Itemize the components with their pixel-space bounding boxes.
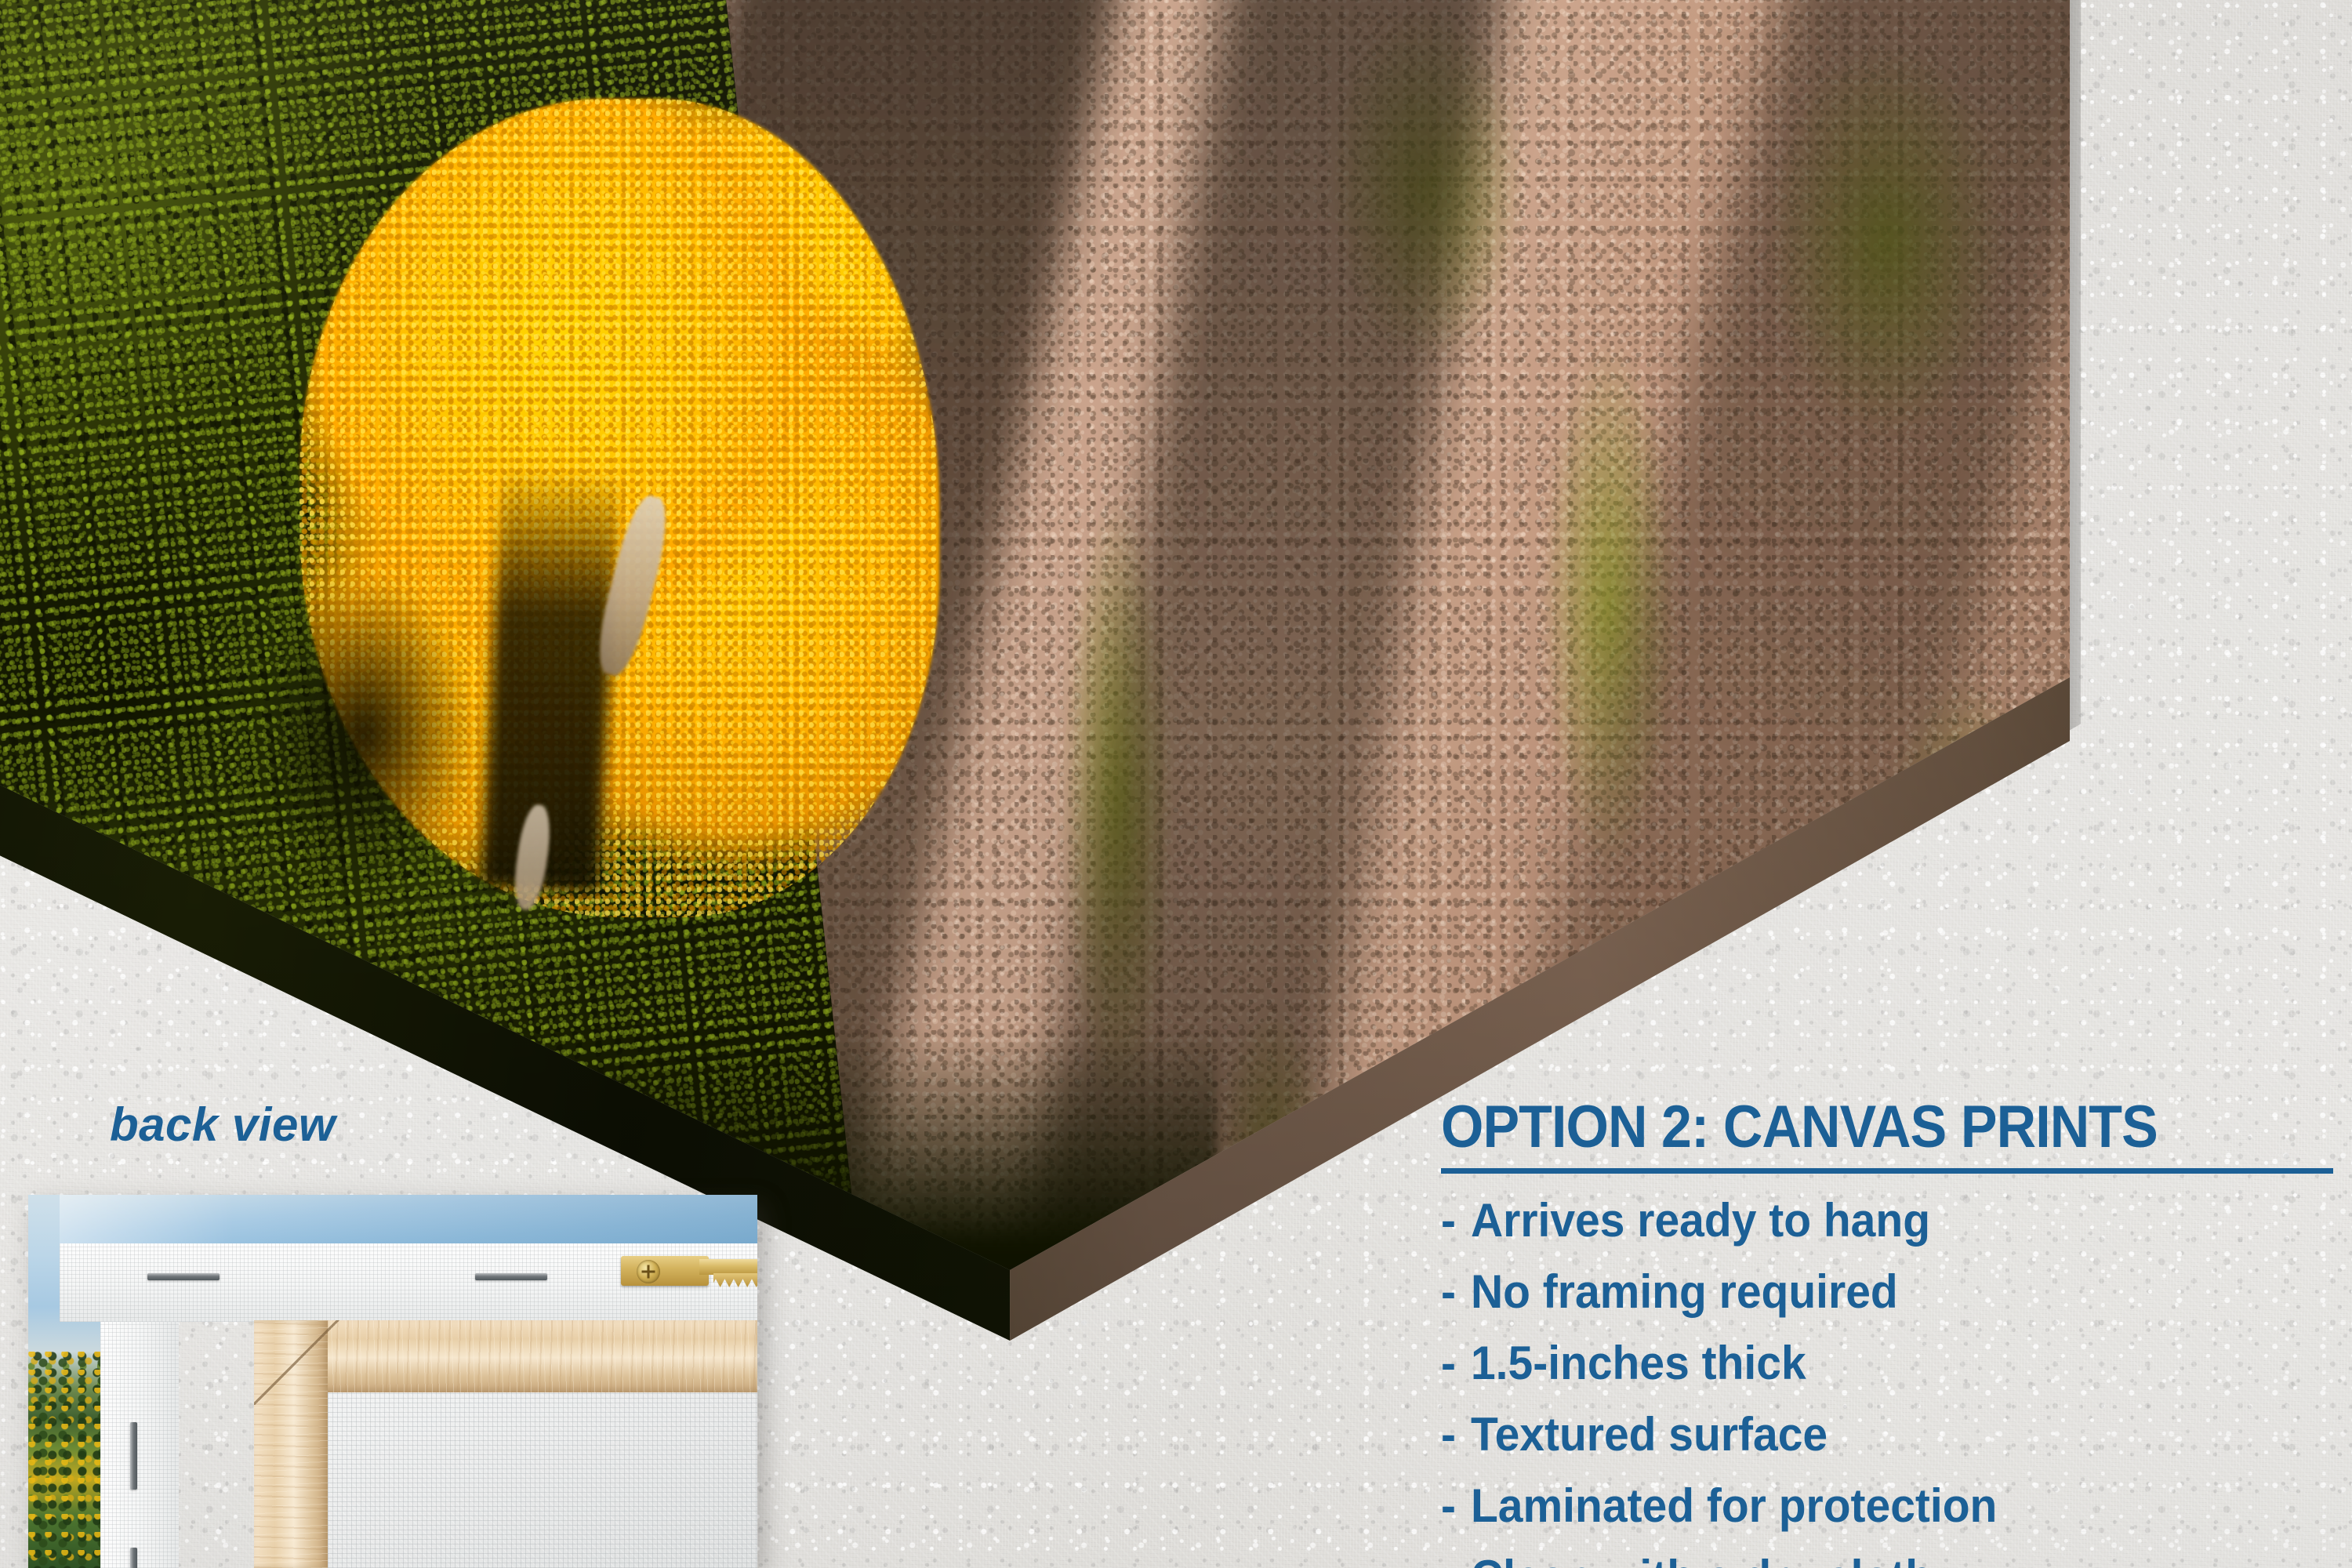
panel-title-underline (1441, 1168, 2333, 1174)
feature-bullet: - 1.5-inches thick (1441, 1340, 2290, 1387)
printed-canvas-wrap-left-texture (28, 1352, 100, 1568)
back-view-thumbnail (28, 1195, 757, 1568)
bullet-text: Arrives ready to hang (1471, 1197, 1930, 1244)
feature-bullet: - No framing required (1441, 1269, 2290, 1316)
feature-bullet: - Clean with a dry cloth (1441, 1554, 2290, 1568)
bullet-dash: - (1441, 1554, 1456, 1568)
canvas-back-weave-texture (328, 1392, 757, 1568)
bullet-dash: - (1441, 1483, 1456, 1530)
staple (147, 1273, 220, 1280)
feature-bullet: - Arrives ready to hang (1441, 1197, 2290, 1244)
staple (475, 1273, 547, 1280)
white-canvas-band-left-weave (100, 1322, 179, 1568)
brass-screw-icon (637, 1260, 660, 1283)
bullet-dash: - (1441, 1197, 1456, 1244)
hanger-plate (621, 1256, 709, 1286)
feature-bullet-list: - Arrives ready to hang - No framing req… (1441, 1197, 2335, 1568)
bullet-text: Textured surface (1471, 1411, 1828, 1458)
back-view-label: back view (110, 1098, 336, 1152)
bullet-dash: - (1441, 1340, 1456, 1387)
back-view-composition (28, 1195, 757, 1568)
printed-canvas-wrap-top-shading (60, 1195, 757, 1243)
staple (130, 1548, 137, 1568)
bullet-text: 1.5-inches thick (1471, 1340, 1806, 1387)
hanger-sawtooth (713, 1273, 757, 1287)
product-infographic: back view (0, 0, 2352, 1568)
panel-title: OPTION 2: CANVAS PRINTS (1441, 1098, 2263, 1157)
bullet-dash: - (1441, 1411, 1456, 1458)
bullet-text: No framing required (1471, 1269, 1898, 1316)
bullet-text: Clean with a dry cloth (1471, 1554, 1933, 1568)
feature-panel: OPTION 2: CANVAS PRINTS - Arrives ready … (1441, 1098, 2335, 1568)
hanger-bar (699, 1259, 757, 1275)
bullet-dash: - (1441, 1269, 1456, 1316)
feature-bullet: - Textured surface (1441, 1411, 2290, 1458)
feature-bullet: - Laminated for protection (1441, 1483, 2290, 1530)
bullet-text: Laminated for protection (1471, 1483, 1997, 1530)
sawtooth-hanger (621, 1250, 757, 1290)
staple (130, 1422, 137, 1490)
